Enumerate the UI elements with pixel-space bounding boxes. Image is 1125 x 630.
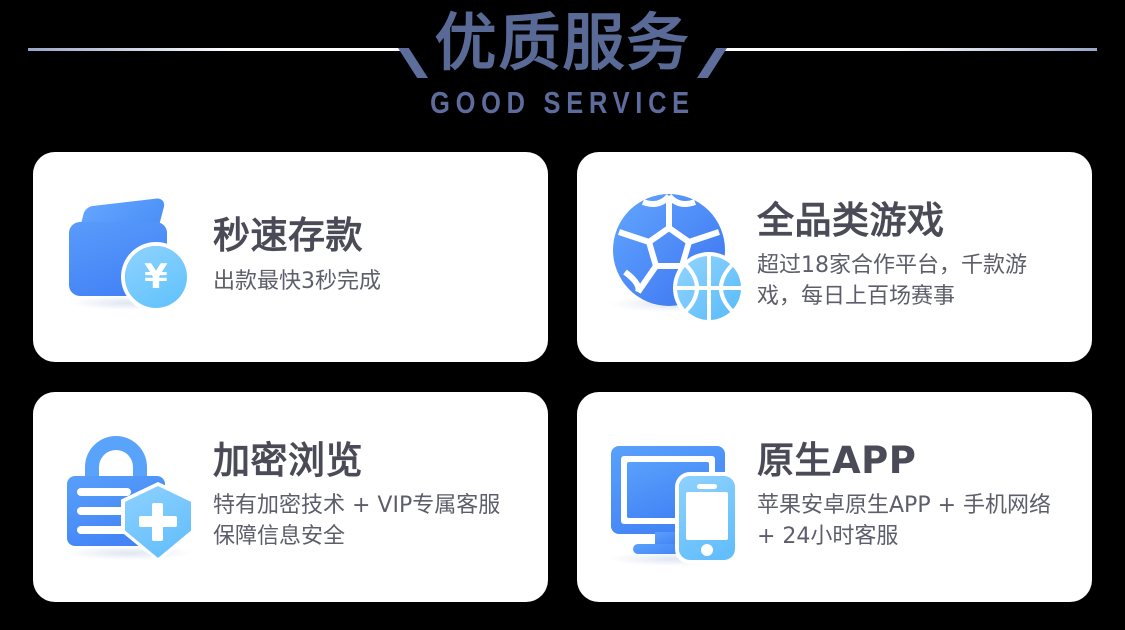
card-description: 出款最快3秒完成 (213, 266, 522, 297)
phone-speaker (697, 484, 717, 489)
monitor-phone-icon (605, 424, 751, 570)
soccer-basketball-icon (605, 184, 751, 330)
feature-card-text: 秒速存款 出款最快3秒完成 (207, 215, 522, 299)
feature-card-deposit[interactable]: ¥ 秒速存款 出款最快3秒完成 (33, 152, 548, 362)
lock-stripe (77, 488, 131, 496)
plus-icon (152, 503, 163, 541)
card-title: 全品类游戏 (757, 200, 1066, 241)
card-description: 苹果安卓原生APP + 手机网络 + 24小时客服 (757, 490, 1066, 552)
feature-card-grid: ¥ 秒速存款 出款最快3秒完成 (33, 152, 1092, 602)
feature-card-native-app[interactable]: 原生APP 苹果安卓原生APP + 手机网络 + 24小时客服 (577, 392, 1092, 602)
card-title: 加密浏览 (213, 440, 522, 481)
basketball-seams (677, 256, 741, 320)
page-title: 优质服务 (0, 6, 1125, 79)
card-title: 秒速存款 (213, 215, 522, 256)
card-description: 特有加密技术 + VIP专属客服保障信息安全 (213, 490, 522, 552)
phone-home-button (701, 544, 713, 556)
lock-shield-icon (61, 424, 207, 570)
wallet-yen-icon: ¥ (61, 184, 207, 330)
feature-card-text: 加密浏览 特有加密技术 + VIP专属客服保障信息安全 (207, 440, 522, 555)
feature-card-encryption[interactable]: 加密浏览 特有加密技术 + VIP专属客服保障信息安全 (33, 392, 548, 602)
feature-card-text: 全品类游戏 超过18家合作平台，千款游戏，每日上百场赛事 (751, 200, 1066, 315)
balls-svg (605, 184, 751, 330)
feature-card-text: 原生APP 苹果安卓原生APP + 手机网络 + 24小时客服 (751, 440, 1066, 555)
page-subtitle: GOOD SERVICE (101, 85, 1024, 121)
header-title-block: 优质服务 GOOD SERVICE (0, 6, 1125, 121)
page-header: 优质服务 GOOD SERVICE (0, 0, 1125, 146)
card-description: 超过18家合作平台，千款游戏，每日上百场赛事 (757, 250, 1066, 312)
yen-symbol: ¥ (125, 246, 187, 308)
card-title: 原生APP (757, 440, 1066, 481)
phone-screen (686, 492, 728, 540)
promo-page: 优质服务 GOOD SERVICE ¥ 秒速存款 出款最快3秒完成 (0, 0, 1125, 630)
feature-card-games[interactable]: 全品类游戏 超过18家合作平台，千款游戏，每日上百场赛事 (577, 152, 1092, 362)
